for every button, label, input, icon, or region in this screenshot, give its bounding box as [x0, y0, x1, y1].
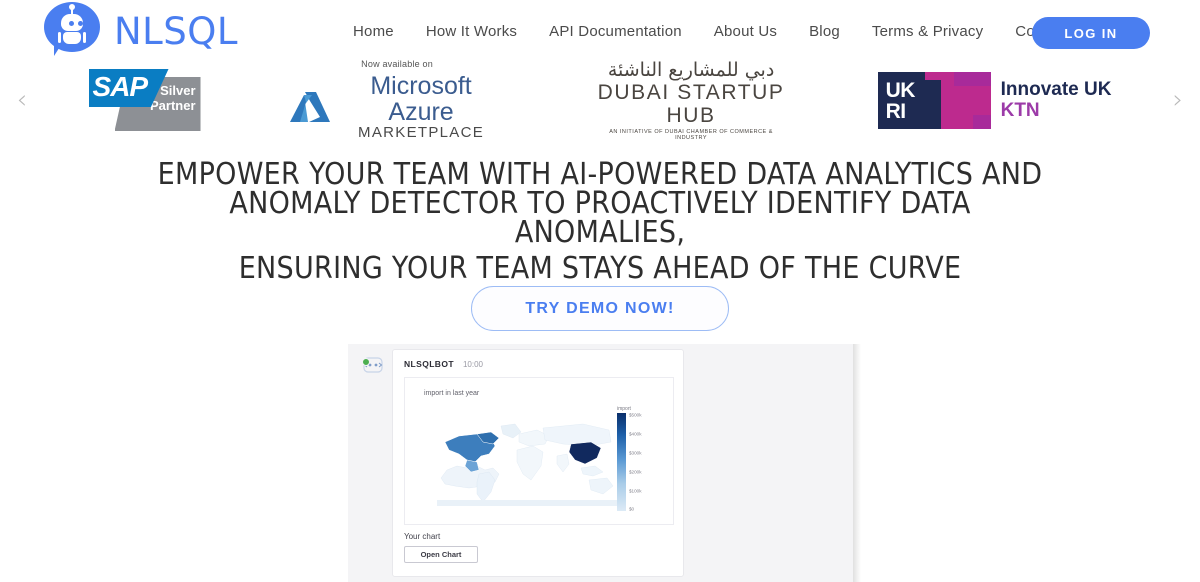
nav-item-terms-privacy[interactable]: Terms & Privacy — [872, 23, 983, 40]
headline-line-4: Ensuring your team stays ahead of the cu… — [0, 254, 1200, 283]
partner-logos: Silver Partner SAP Now available on — [44, 62, 1156, 138]
sap-silver-partner-logo: Silver Partner SAP — [89, 69, 201, 131]
open-chart-button[interactable]: Open Chart — [404, 546, 478, 563]
chevron-left-icon[interactable]: ‹ — [0, 62, 44, 138]
colorbar-tick: $0 — [629, 507, 634, 512]
chat-message-card: NLSQLBOT 10:00 import in last year — [392, 349, 684, 577]
nav-item-how-it-works[interactable]: How It Works — [426, 23, 517, 40]
robot-icon — [58, 12, 86, 44]
robot-eye-left — [69, 21, 74, 26]
partner-logo-dubai-startup-hub[interactable]: دبي للمشاريع الناشئة DUBAI STARTUP HUB A… — [594, 62, 789, 138]
robot-body — [63, 32, 81, 44]
online-status-dot — [362, 358, 370, 366]
colorbar-body: $500k $400k $300k $200k $100k $0 — [617, 413, 663, 511]
robot-arm-left — [58, 32, 61, 43]
nav-item-about-us[interactable]: About Us — [714, 23, 777, 40]
try-demo-button[interactable]: TRY DEMO NOW! — [471, 286, 729, 331]
sap-wordmark: SAP — [93, 71, 148, 103]
chat-message-header: NLSQLBOT 10:00 — [393, 350, 683, 377]
nav-item-blog[interactable]: Blog — [809, 23, 840, 40]
colorbar-title: import — [617, 406, 663, 412]
colorbar-tick: $200k — [629, 470, 642, 475]
your-chart-label: Your chart — [404, 532, 440, 541]
azure-eyebrow: Now available on — [290, 59, 505, 69]
colorbar-tick: $100k — [629, 489, 642, 494]
colorbar-gradient — [617, 413, 626, 511]
headline-line-1: Empower your team with AI-powered data a… — [0, 160, 1200, 189]
site-header: NLSQL Home How It Works API Documentatio… — [0, 0, 1200, 62]
colorbar-tick: $500k — [629, 413, 642, 418]
partner-logo-sap[interactable]: Silver Partner SAP — [89, 62, 201, 138]
bot-name: NLSQLBOT — [404, 359, 454, 369]
nav-item-home[interactable]: Home — [353, 23, 394, 40]
nlsql-robot-bubble-logo — [44, 2, 102, 60]
nav-item-api-documentation[interactable]: API Documentation — [549, 23, 682, 40]
dubai-arabic-text: دبي للمشاريع الناشئة — [594, 59, 789, 81]
colorbar-tick: $300k — [629, 451, 642, 456]
colorbar-tick: $400k — [629, 432, 642, 437]
azure-sub: MARKETPLACE — [338, 125, 505, 141]
chart-colorbar-legend: import $500k $400k $300k $200k $100k $0 — [617, 406, 663, 518]
partner-logo-carousel: ‹ Silver Partner SAP Now available on — [0, 62, 1200, 138]
robot-eye-right — [78, 21, 83, 26]
chart-title: import in last year — [424, 390, 479, 397]
ukri-wordmark: UKRI — [886, 80, 915, 122]
partner-logo-azure[interactable]: Now available on Microsoft Azure MARKETP… — [290, 62, 505, 138]
colorbar-ticks: $500k $400k $300k $200k $100k $0 — [629, 413, 663, 511]
azure-row: Microsoft Azure MARKETPLACE — [290, 73, 505, 141]
robot-arm-right — [83, 32, 86, 43]
azure-text: Microsoft Azure MARKETPLACE — [338, 73, 505, 141]
azure-triangle-icon — [290, 90, 330, 124]
main-navigation: Home How It Works API Documentation Abou… — [353, 23, 1091, 40]
mockup-edge-shadow — [853, 344, 861, 582]
partner-logo-innovate-uk-ktn[interactable]: UKRI Innovate UK KTN — [878, 62, 1112, 138]
dubai-english-text: DUBAI STARTUP HUB — [594, 81, 789, 127]
chart-container[interactable]: import in last year — [404, 377, 674, 525]
innovate-uk-line-2: KTN — [1001, 100, 1112, 121]
microsoft-azure-marketplace-logo: Now available on Microsoft Azure MARKETP… — [290, 59, 505, 141]
robot-head — [61, 14, 83, 31]
ukri-magenta-panel-2 — [925, 72, 943, 80]
ukri-block: UKRI — [878, 72, 991, 129]
dubai-subtitle: AN INITIATIVE OF DUBAI CHAMBER OF COMMER… — [594, 129, 789, 141]
speech-bubble-tail — [54, 42, 67, 56]
brand-logo[interactable]: NLSQL — [44, 2, 238, 60]
innovate-uk-text: Innovate UK KTN — [1001, 79, 1112, 121]
azure-name: Microsoft Azure — [338, 73, 505, 125]
ukri-innovate-uk-logo: UKRI Innovate UK KTN — [878, 72, 1112, 129]
login-button[interactable]: LOG IN — [1032, 17, 1150, 49]
landing-page: NLSQL Home How It Works API Documentatio… — [0, 0, 1200, 582]
innovate-uk-line-1: Innovate UK — [1001, 79, 1112, 100]
message-timestamp: 10:00 — [463, 360, 483, 369]
hero-headline: Empower your team with AI-powered data a… — [0, 160, 1200, 283]
brand-name: NLSQL — [114, 10, 238, 53]
headline-line-2: anomaly detector to proactively identify… — [0, 189, 1200, 218]
chevron-right-icon[interactable]: › — [1156, 62, 1200, 138]
ukri-magenta-panel-4 — [973, 115, 991, 129]
dubai-startup-hub-logo: دبي للمشاريع الناشئة DUBAI STARTUP HUB A… — [594, 59, 789, 141]
chat-demo-mockup: NLSQLBOT 10:00 import in last year — [348, 344, 853, 582]
ukri-magenta-panel-3 — [954, 72, 991, 86]
world-choropleth-map — [433, 416, 623, 508]
headline-line-3: anomalies, — [0, 218, 1200, 247]
